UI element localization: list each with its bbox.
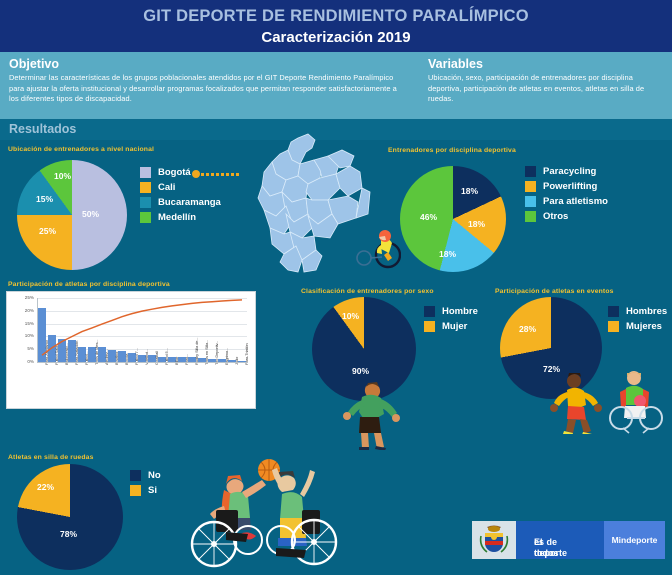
objetivo-text: Determinar las características de los gr… (9, 73, 407, 105)
legend-item-para-atletismo: Para atletismo (525, 196, 608, 207)
legend-item-medellin: Medellín (140, 212, 221, 223)
footer-logo-block: El deportees de todos Mindeporte (472, 521, 665, 559)
wheelchair-table-tennis-illustration (607, 370, 665, 434)
pie-atletas-silla-ruedas (17, 464, 123, 570)
objetivo-block: Objetivo Determinar las características … (9, 57, 407, 105)
y-axis-tick: 10% (10, 333, 34, 338)
legend-swatch-cali (140, 182, 151, 193)
y-axis-tick: 5% (10, 346, 34, 351)
resultados-heading: Resultados (9, 122, 76, 136)
pie-label-medellin: 10% (54, 171, 71, 181)
pie-label-mujer: 10% (342, 311, 359, 321)
colombia-coat-of-arms-icon (472, 521, 516, 559)
pie-label-bogota: 50% (82, 209, 99, 219)
brand-block: El deportees de todos (516, 521, 604, 559)
legend-label-powerlifting: Powerlifting (543, 181, 597, 192)
wheelchair-basketball-illustration (186, 448, 346, 572)
legend-swatch-hombres (608, 306, 619, 317)
chart-title-atletas-disciplina: Participación de atletas por disciplina … (8, 281, 170, 288)
legend-swatch-para-atletismo (525, 196, 536, 207)
chart-title-atletas-silla: Atletas en silla de ruedas (8, 454, 94, 461)
legend-label-mujer: Mujer (442, 321, 467, 332)
legend-swatch-otros (525, 211, 536, 222)
legend-swatch-mujeres (608, 321, 619, 332)
runner-illustration (338, 378, 404, 450)
ministry-block: Mindeporte (604, 521, 665, 559)
pie-label-cali: 25% (39, 226, 56, 236)
legend-entrenadores-sexo: Hombre Mujer (424, 306, 478, 336)
legend-item-hombres: Hombres (608, 306, 667, 317)
pie-label-powerlifting: 18% (468, 219, 485, 229)
chart-title-atletas-eventos: Participación de atletas en eventos (495, 288, 614, 295)
pie-label-paracycling: 18% (461, 186, 478, 196)
legend-item-powerlifting: Powerlifting (525, 181, 608, 192)
legend-swatch-mujer (424, 321, 435, 332)
chart-title-entrenadores-sexo: Clasificación de entrenadores por sexo (301, 288, 434, 295)
ministry-label: Mindeporte (612, 535, 658, 545)
pie-ubicacion-entrenadores (17, 160, 127, 270)
legend-ubicacion-entrenadores: Bogotá Cali Bucaramanga Medellín (140, 167, 221, 227)
objetivo-heading: Objetivo (9, 57, 407, 73)
legend-label-cali: Cali (158, 182, 175, 193)
pie-label-si: 22% (37, 482, 54, 492)
legend-label-bucaramanga: Bucaramanga (158, 197, 221, 208)
legend-label-hombre: Hombre (442, 306, 478, 317)
intro-band: Objetivo Determinar las características … (0, 52, 672, 119)
page-subtitle: Caracterización 2019 (0, 26, 672, 46)
pie-label-para-atletismo: 18% (439, 249, 456, 259)
variables-block: Variables Ubicación, sexo, participación… (428, 57, 664, 105)
legend-swatch-medellin (140, 212, 151, 223)
cumulative-line (37, 298, 247, 362)
legend-item-bogota: Bogotá (140, 167, 221, 178)
pie-label-hombre: 90% (352, 366, 369, 376)
legend-label-para-atletismo: Para atletismo (543, 196, 608, 207)
y-axis-tick: 25% (10, 295, 34, 300)
legend-item-cali: Cali (140, 182, 221, 193)
legend-label-no: No (148, 470, 161, 481)
paracyclist-illustration (355, 225, 401, 269)
legend-swatch-no (130, 470, 141, 481)
legend-atletas-silla-ruedas: No Si (130, 470, 161, 500)
legend-swatch-paracycling (525, 166, 536, 177)
legend-atletas-eventos: Hombres Mujeres (608, 306, 667, 336)
variables-text: Ubicación, sexo, participación de entren… (428, 73, 664, 105)
y-axis-tick: 20% (10, 308, 34, 313)
variables-heading: Variables (428, 57, 664, 73)
legend-swatch-bogota (140, 167, 151, 178)
legend-label-paracycling: Paracycling (543, 166, 596, 177)
legend-swatch-powerlifting (525, 181, 536, 192)
legend-item-hombre: Hombre (424, 306, 478, 317)
y-axis-tick: 15% (10, 321, 34, 326)
x-axis-line (37, 362, 248, 363)
legend-swatch-hombre (424, 306, 435, 317)
y-axis-tick: 0% (10, 359, 34, 364)
bar-chart-panel: 0%5%10%15%20%25%Para-AtletismoFútbol Sal… (6, 291, 256, 409)
pie-label-no: 78% (60, 529, 77, 539)
legend-label-otros: Otros (543, 211, 568, 222)
y-axis-line (37, 298, 38, 362)
sprinter-illustration (549, 372, 605, 434)
legend-item-paracycling: Paracycling (525, 166, 608, 177)
legend-item-si: Si (130, 485, 161, 496)
legend-swatch-si (130, 485, 141, 496)
legend-label-bogota: Bogotá (158, 167, 191, 178)
pie-label-mujeres: 28% (519, 324, 536, 334)
legend-label-hombres: Hombres (626, 306, 667, 317)
pie-label-bucaramanga: 15% (36, 194, 53, 204)
infographic-page: GIT DEPORTE DE RENDIMIENTO PARALÍMPICO C… (0, 0, 672, 575)
legend-item-mujeres: Mujeres (608, 321, 667, 332)
legend-item-bucaramanga: Bucaramanga (140, 197, 221, 208)
legend-label-medellin: Medellín (158, 212, 196, 223)
legend-swatch-bucaramanga (140, 197, 151, 208)
legend-label-mujeres: Mujeres (626, 321, 662, 332)
chart-title-ubicacion: Ubicación de entrenadores a nivel nacion… (8, 146, 154, 153)
legend-item-otros: Otros (525, 211, 608, 222)
header-banner: GIT DEPORTE DE RENDIMIENTO PARALÍMPICO C… (0, 0, 672, 52)
page-title: GIT DEPORTE DE RENDIMIENTO PARALÍMPICO (0, 0, 672, 26)
legend-entrenadores-disciplina: Paracycling Powerlifting Para atletismo … (525, 166, 608, 226)
chart-title-entrenadores-disciplina: Entrenadores por disciplina deportiva (388, 147, 516, 154)
legend-item-no: No (130, 470, 161, 481)
legend-item-mujer: Mujer (424, 321, 478, 332)
bar-chart-plot-area: 0%5%10%15%20%25%Para-AtletismoFútbol Sal… (37, 298, 247, 362)
pie-label-otros: 46% (420, 212, 437, 222)
legend-label-si: Si (148, 485, 157, 496)
